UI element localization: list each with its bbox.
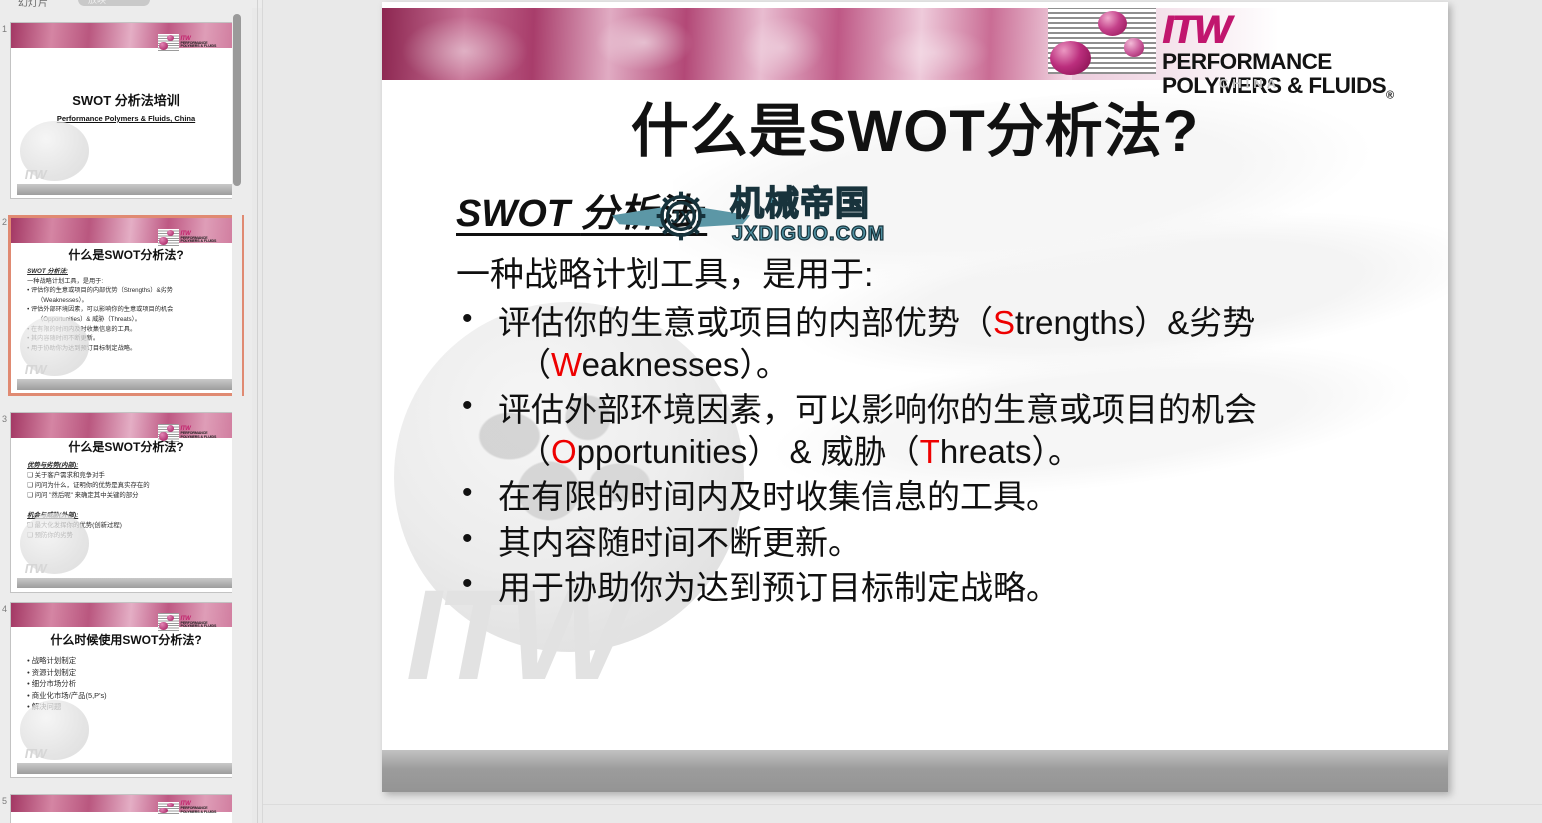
thumbnail-body-line: • 战略计划制定 [27,655,232,666]
bullet-text: （ [518,433,551,470]
thumbnail-row[interactable]: 5ITWPERFORMANCEPOLYMERS & FLUIDSITW [0,794,252,823]
thumbnail-slide-number: 4 [2,604,7,614]
thumbnail-body-line: （Weaknesses）。 [27,296,232,306]
bullet-text: eaknesses）。 [582,346,789,383]
header-photo-banner [382,8,1072,80]
thumbnail-title: 什么是SWOT分析法? [20,246,232,263]
thumbnail-itw-watermark: ITW [25,746,46,761]
thumbnail-body-line: • 评估你的生意或项目的内部优势（Strengths）&劣势 [27,286,232,296]
thumbnail-body-line: SWOT 分析法: [27,267,232,277]
bullet-text: （ [518,346,551,383]
thumbnail-itw-logo: ITWPERFORMANCEPOLYMERS & FLUIDS [158,802,236,814]
thumbnail-itw-logo: ITWPERFORMANCEPOLYMERS & FLUIDS [158,34,236,52]
bullet-text: 评估外部环境因素，可以影响你的生意或项目的机会 [498,391,1257,428]
slide-bullet: 评估外部环境因素，可以影响你的生意或项目的机会（Opportunities） &… [456,389,1416,472]
thumbnail-footer-bar [17,578,236,589]
slide-thumbnail[interactable]: ITWPERFORMANCEPOLYMERS & FLUIDS什么是SWOT分析… [8,215,244,396]
slide-title: 什么是SWOT分析法? [382,84,1448,168]
toolbar-strip: 幻灯片 放映 [0,0,264,8]
stage-bottom-divider [263,804,1542,805]
thumbnail-title: 什么时候使用SWOT分析法? [20,631,232,648]
thumbnail-body-line: ❑ 关于客户需求和竞争对手 [27,471,232,481]
bullet-text: trengths）&劣势 [1015,304,1255,341]
thumbnail-body-line [27,501,232,511]
toolbar-pill-label: 放映 [88,0,106,6]
bullet-text: hreats）。 [940,433,1081,470]
thumbnail-slide-number: 3 [2,414,7,424]
thumbnail-row[interactable]: 4ITWPERFORMANCEPOLYMERS & FLUIDS什么时候使用SW… [0,602,252,778]
intro-line: 一种战略计划工具，是用于: [456,247,1416,296]
lead-heading: SWOT 分析法: [456,182,1416,237]
slide-bullet: 用于协助你为达到预订目标制定战略。 [456,567,1416,609]
thumbnail-row[interactable]: 3ITWPERFORMANCEPOLYMERS & FLUIDS什么是SWOT分… [0,412,252,593]
slide-thumbnail[interactable]: ITWPERFORMANCEPOLYMERS & FLUIDS什么时候使用SWO… [10,602,242,778]
thumbnail-row[interactable]: 2ITWPERFORMANCEPOLYMERS & FLUIDS什么是SWOT分… [0,215,252,396]
thumbnail-row[interactable]: 1ITWPERFORMANCEPOLYMERS & FLUIDSSWOT 分析法… [0,22,252,199]
slide-thumbnail[interactable]: ITWPERFORMANCEPOLYMERS & FLUIDSSWOT 分析法培… [10,22,242,199]
lead-heading-cn: 分析法: [581,193,708,235]
bullet-text: pportunities） & 威胁（ [577,433,920,470]
pane-divider [257,0,258,823]
thumbnail-itw-logo: ITWPERFORMANCEPOLYMERS & FLUIDS [158,613,236,630]
thumbnail-slide-number: 2 [2,217,7,227]
itw-tagline-performance: PERFORMANCE [1162,51,1394,74]
thumbnail-itw-watermark: ITW [25,167,46,182]
thumbnail-body-line: ❑ 问问 "然后呢" 来确定其中关键的部分 [27,491,232,501]
thumbnail-body-line: • 资源计划制定 [27,667,232,678]
lead-heading-en: SWOT [456,193,581,235]
bullet-continuation: （Opportunities） & 威胁（Threats）。 [498,431,1416,473]
bullet-continuation: （Weaknesses）。 [498,344,1416,386]
thumbnail-slide-number: 1 [2,24,7,34]
slide-thumbnail-pane[interactable]: 1ITWPERFORMANCEPOLYMERS & FLUIDSSWOT 分析法… [0,8,252,823]
slide-bullet: 评估你的生意或项目的内部优势（Strengths）&劣势（Weaknesses）… [456,302,1416,385]
thumbnail-itw-watermark: ITW [25,362,46,377]
thumbnail-body-line: 一种战略计划工具，是用于: [27,277,232,287]
thumbnail-itw-logo: ITWPERFORMANCEPOLYMERS & FLUIDS [158,229,236,247]
thumbnail-title: 什么是SWOT分析法? [20,438,232,455]
itw-wordmark: ITW [1162,10,1394,50]
thumbnail-body-line: • 商业化市场/产品(5,P's) [27,690,232,701]
swot-initial-letter: S [993,304,1015,341]
bullet-text: 用于协助你为达到预订目标制定战略。 [498,569,1059,606]
bullet-text: 其内容随时间不断更新。 [498,524,861,561]
slide-body: SWOT 分析法: 一种战略计划工具，是用于: 评估你的生意或项目的内部优势（S… [456,182,1416,613]
thumbnail-body-line: • 细分市场分析 [27,678,232,689]
slide-thumbnail[interactable]: ITWPERFORMANCEPOLYMERS & FLUIDSITW [10,794,242,823]
itw-spheres-icon [1048,8,1156,74]
active-slide[interactable]: ITW ITW PERFORMANCE POLYMERS & FLUIDS® C… [382,2,1448,792]
bullet-text: 在有限的时间内及时收集信息的工具。 [498,478,1059,515]
slide-bullet: 在有限的时间内及时收集信息的工具。 [456,476,1416,518]
toolbar-pill-button[interactable]: 放映 [78,0,150,6]
slide-editor-stage[interactable]: ITW ITW PERFORMANCE POLYMERS & FLUIDS® C… [263,0,1542,823]
slide-footer-bar [382,750,1448,792]
thumbnail-scrollbar-track[interactable] [232,8,242,823]
thumbnail-footer-bar [17,763,236,773]
thumbnail-footer-bar [17,379,236,390]
swot-initial-letter: T [920,433,940,470]
thumbnail-itw-watermark: ITW [25,561,46,576]
thumbnail-body-line: 优势与劣势(内部): [27,461,232,471]
bullet-text: 评估你的生意或项目的内部优势（ [498,304,993,341]
thumbnail-footer-bar [17,184,236,195]
thumbnail-slide-number: 5 [2,796,7,806]
bullet-list: 评估你的生意或项目的内部优势（Strengths）&劣势（Weaknesses）… [456,302,1416,609]
slide-thumbnail[interactable]: ITWPERFORMANCEPOLYMERS & FLUIDS什么是SWOT分析… [10,412,242,593]
slide-bullet: 其内容随时间不断更新。 [456,522,1416,564]
swot-initial-letter: O [551,433,577,470]
thumbnail-body-line: • 评估外部环境因素，可以影响你的生意或项目的机会 [27,305,232,315]
swot-initial-letter: W [551,346,582,383]
thumbnail-scrollbar-thumb[interactable] [233,14,241,186]
thumbnail-title: SWOT 分析法培训 [20,90,232,109]
thumbnail-body-line: ❑ 问问为什么，证明你的优势是真实存在的 [27,481,232,491]
